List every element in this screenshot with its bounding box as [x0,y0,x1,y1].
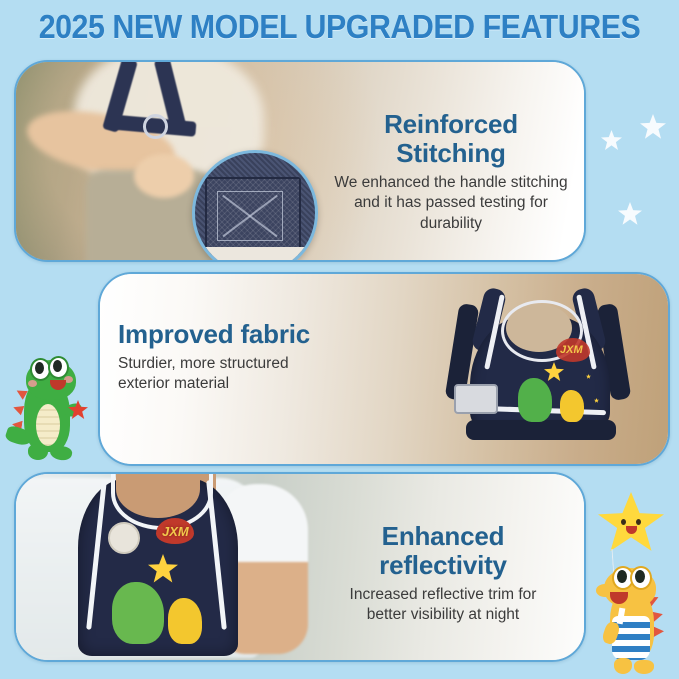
panel-1-text: Reinforced Stitching We enhanced the han… [332,110,570,234]
panel-1-body-line2: and it has passed testing for durability [332,193,570,233]
yellow-star-balloon-icon [598,492,664,554]
feature-panel-reinforced-stitching[interactable]: Reinforced Stitching We enhanced the han… [14,60,586,262]
vest-dino-graphic [514,364,604,426]
panel-3-body-line1: Increased reflective trim for [318,585,568,605]
panel-3-heading: Enhanced reflectivity [318,522,568,580]
star-icon [601,130,622,151]
child-wearing-vest-image: JXM [16,474,346,660]
panel-3-body-line2: better visibility at night [318,605,568,625]
brand-logo: JXM [162,524,189,539]
panel-2-body-line1: Sturdier, more structured [118,354,398,374]
star-icon [640,114,666,140]
panel-3-text: Enhanced reflectivity Increased reflecti… [318,522,568,626]
vest-badge-icon [108,522,140,554]
panel-2-text: Improved fabric Sturdier, more structure… [118,320,398,394]
star-icon [618,202,642,226]
page-title: 2025 NEW MODEL UPGRADED FEATURES [27,8,652,46]
feature-panel-enhanced-reflectivity[interactable]: JXM Enhanced reflectivity Increased refl… [14,472,586,662]
yellow-dinosaur-mascot [596,566,676,679]
panel-1-body-line1: We enhanced the handle stitching [332,173,570,193]
brand-logo: JXM [560,344,583,356]
feature-panel-improved-fabric[interactable]: JXM Improved fabric Sturdier, more struc… [98,272,670,466]
panel-2-heading: Improved fabric [118,320,398,349]
harness-vest-product-image: JXM [418,280,658,460]
vest-dino-graphic [108,558,218,648]
panel-2-body-line2: exterior material [118,374,398,394]
panel-1-heading: Reinforced Stitching [332,110,570,168]
stitching-zoom-inset [192,150,318,262]
harness-ring-icon [143,114,168,139]
harness-buckle-icon [454,384,498,414]
infographic-stage: 2025 NEW MODEL UPGRADED FEATURES Reinfor… [0,0,679,679]
green-dinosaur-mascot [8,352,90,464]
